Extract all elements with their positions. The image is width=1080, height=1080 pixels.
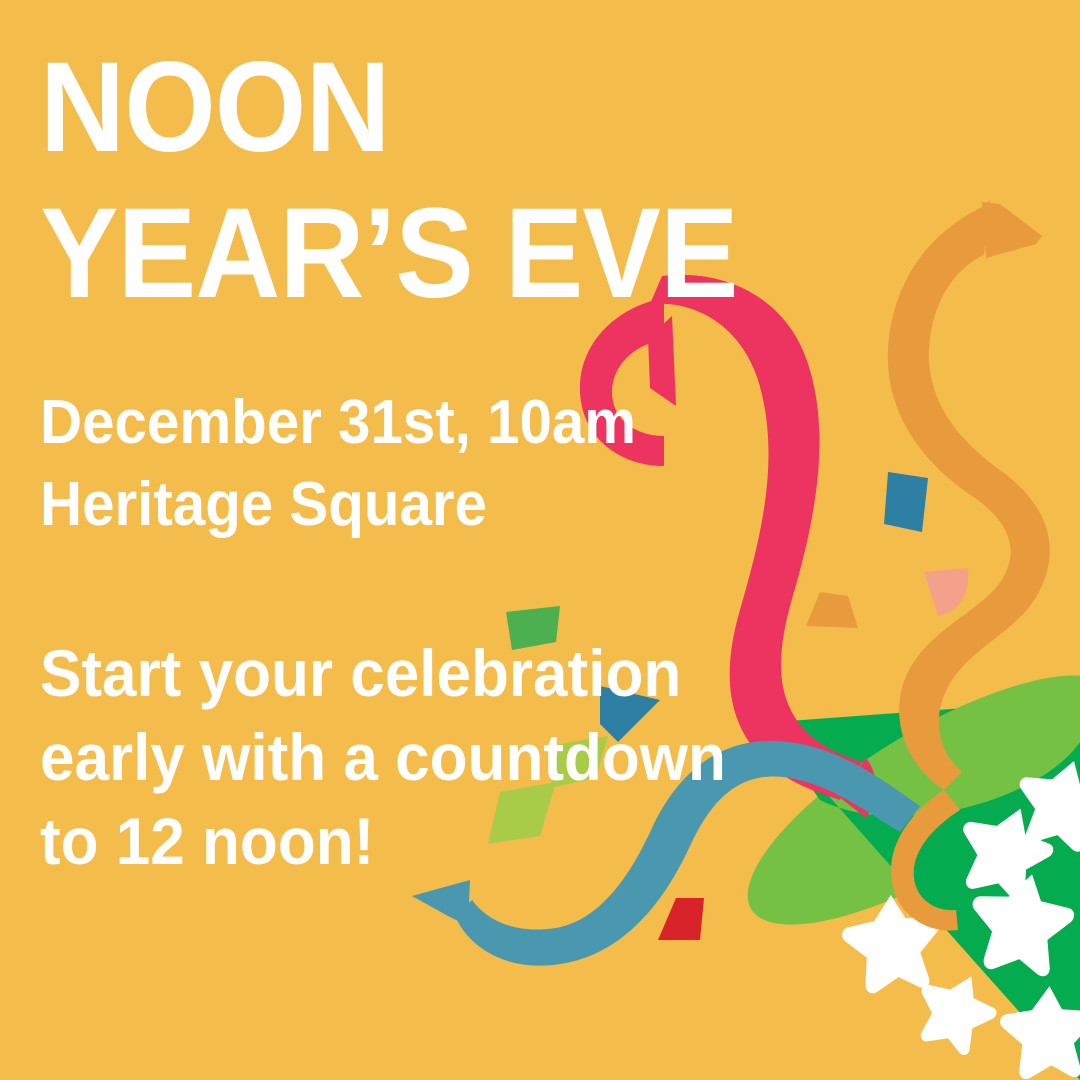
- poster-canvas: NOON YEAR’S EVE December 31st, 10am Heri…: [0, 0, 1080, 1080]
- poster-artwork: [0, 0, 1080, 1080]
- confetti-blue-quad: [884, 472, 928, 532]
